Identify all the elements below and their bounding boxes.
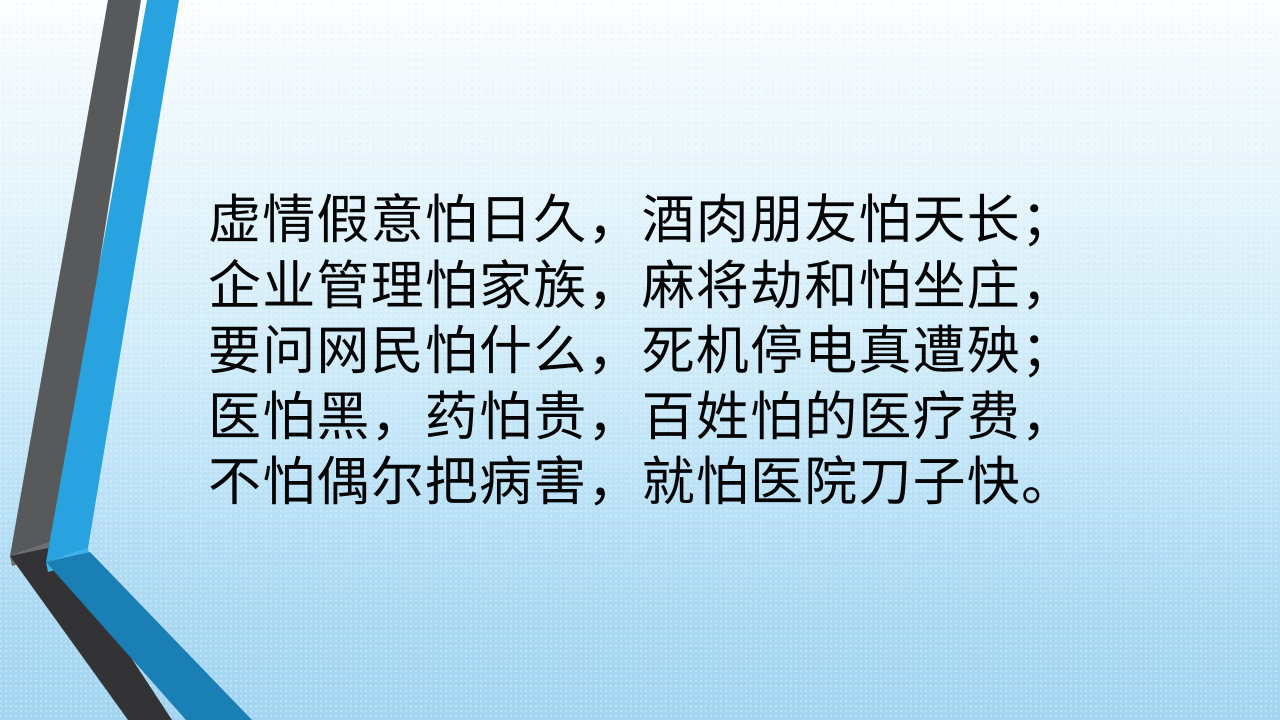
blue-stripe-fold-edge [46,548,90,572]
poem-text-block: 虚情假意怕日久，酒肉朋友怕天长； 企业管理怕家族，麻将劫和怕坐庄， 要问网民怕什… [208,188,1108,516]
poem-line-4: 医怕黑，药怕贵，百姓怕的医疗费， [208,385,1108,451]
poem-line-3: 要问网民怕什么，死机停电真遭殃； [208,319,1108,385]
poem-line-5: 不怕偶尔把病害，就怕医院刀子快。 [208,450,1108,516]
gray-stripe-fold-edge [10,540,58,566]
gray-stripe-lower [10,546,172,720]
blue-stripe-lower [46,552,252,720]
poem-line-1: 虚情假意怕日久，酒肉朋友怕天长； [208,188,1108,254]
presentation-slide: 虚情假意怕日久，酒肉朋友怕天长； 企业管理怕家族，麻将劫和怕坐庄， 要问网民怕什… [0,0,1280,720]
blue-stripe-upper [46,0,179,562]
gray-stripe-upper [10,0,141,556]
poem-line-2: 企业管理怕家族，麻将劫和怕坐庄， [208,254,1108,320]
